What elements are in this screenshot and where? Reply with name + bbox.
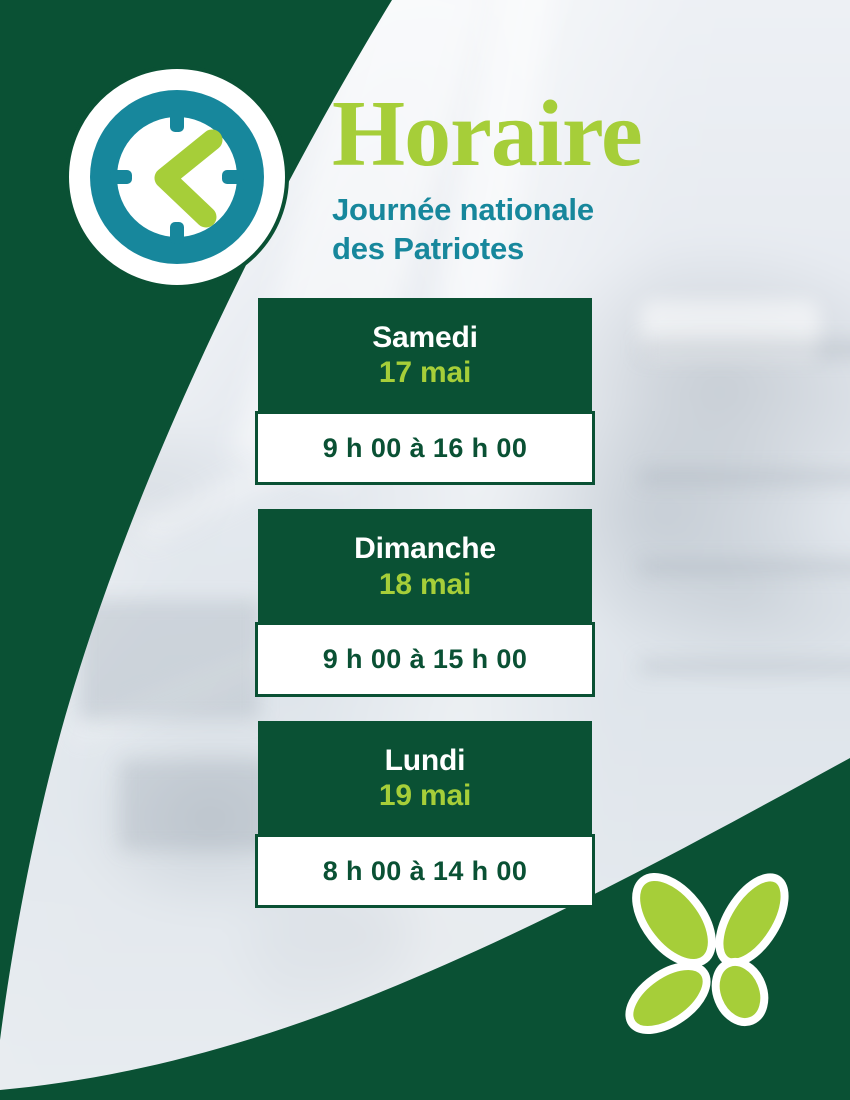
schedule-list: Samedi 17 mai 9 h 00 à 16 h 00 Dimanche … [255, 298, 595, 908]
background-shelf-blur [640, 560, 850, 574]
schedule-poster: Horaire Journée nationale des Patriotes … [0, 0, 850, 1100]
schedule-card: Dimanche 18 mai 9 h 00 à 15 h 00 [255, 509, 595, 696]
schedule-day: Samedi [258, 320, 592, 355]
background-shelf-blur [120, 760, 270, 850]
butterfly-logo-icon [612, 862, 812, 1062]
schedule-day: Lundi [258, 743, 592, 778]
schedule-hours: 9 h 00 à 16 h 00 [255, 411, 595, 486]
schedule-card-header: Dimanche 18 mai [258, 509, 592, 622]
schedule-day: Dimanche [258, 531, 592, 566]
schedule-hours: 9 h 00 à 15 h 00 [255, 622, 595, 697]
page-title: Horaire [332, 88, 752, 180]
schedule-card-header: Samedi 17 mai [258, 298, 592, 411]
schedule-card: Samedi 17 mai 9 h 00 à 16 h 00 [255, 298, 595, 485]
schedule-card-header: Lundi 19 mai [258, 721, 592, 834]
title-block: Horaire Journée nationale des Patriotes [332, 88, 752, 269]
background-shelf-blur [640, 470, 850, 484]
background-shelf-blur [80, 600, 260, 720]
clock-icon [62, 62, 292, 292]
schedule-date: 19 mai [258, 778, 592, 813]
background-shelf-blur [640, 660, 850, 674]
schedule-hours: 8 h 00 à 14 h 00 [255, 834, 595, 909]
schedule-card: Lundi 19 mai 8 h 00 à 14 h 00 [255, 721, 595, 908]
schedule-date: 18 mai [258, 567, 592, 602]
background-shelf-blur [640, 340, 850, 358]
page-subtitle: Journée nationale des Patriotes [332, 190, 752, 269]
schedule-date: 17 mai [258, 355, 592, 390]
